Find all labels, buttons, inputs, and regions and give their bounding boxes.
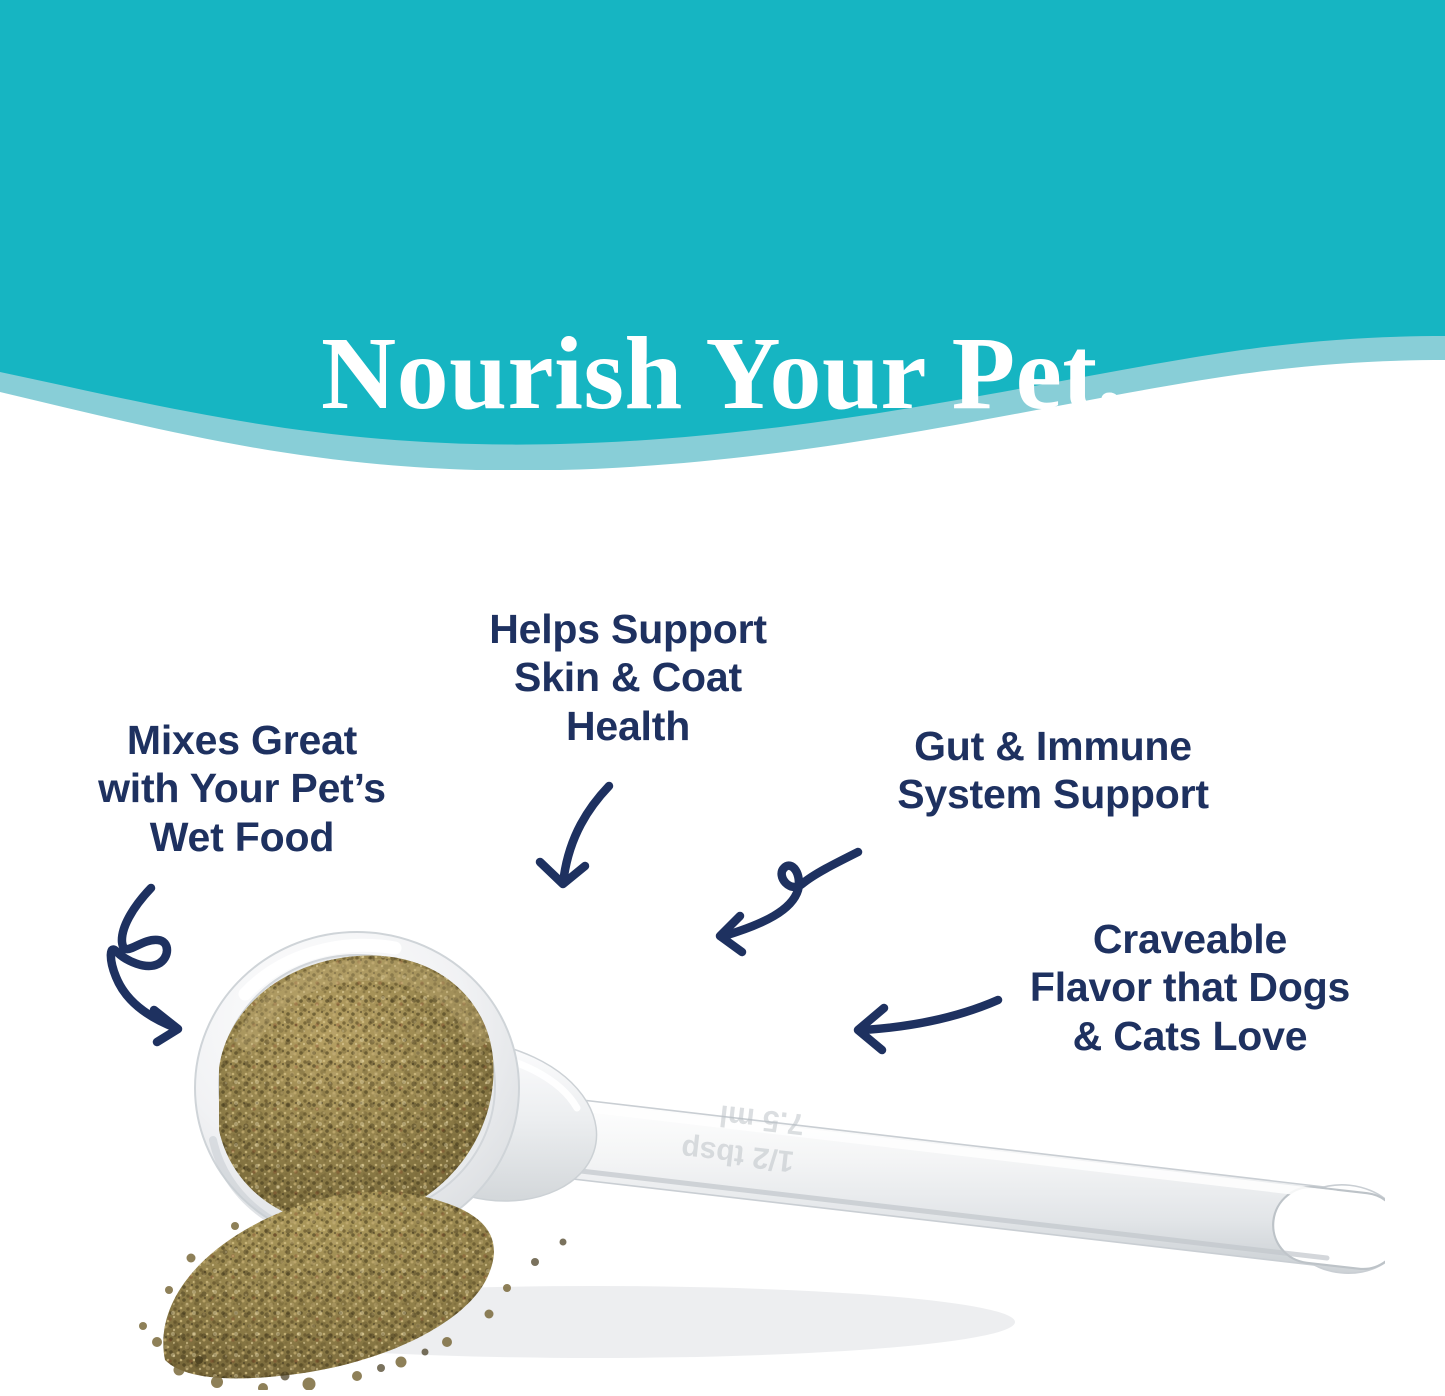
- callout-gut-and-immune-system-support: Gut & Immune System Support: [838, 722, 1268, 819]
- callout-line: Skin & Coat: [428, 653, 828, 701]
- page-title-line-1: Nourish Your Pet,: [0, 312, 1445, 437]
- promo-image-root: Nourish Your Pet, Inside & Out™ Mixes Gr…: [0, 0, 1445, 1396]
- callout-line: Wet Food: [42, 813, 442, 861]
- product-photo-measuring-scoop: 1/2 tbsp 7.5 ml: [95, 890, 1385, 1390]
- measuring-scoop-illustration: 1/2 tbsp 7.5 ml: [95, 890, 1385, 1390]
- scoop-handle: 1/2 tbsp 7.5 ml: [520, 1094, 1385, 1278]
- curved-arrow-down-icon: [518, 778, 648, 898]
- callout-line: with Your Pet’s: [42, 764, 442, 812]
- header-banner: Nourish Your Pet, Inside & Out™: [0, 0, 1445, 470]
- callout-line: Helps Support: [428, 605, 828, 653]
- callout-line: Mixes Great: [42, 716, 442, 764]
- callout-line: System Support: [838, 770, 1268, 818]
- callout-line: Health: [428, 702, 828, 750]
- callout-mixes-great-with-wet-food: Mixes Great with Your Pet’s Wet Food: [42, 716, 442, 861]
- callout-line: Gut & Immune: [838, 722, 1268, 770]
- callout-helps-support-skin-and-coat-health: Helps Support Skin & Coat Health: [428, 605, 828, 750]
- page-title: Nourish Your Pet, Inside & Out™: [0, 62, 1445, 470]
